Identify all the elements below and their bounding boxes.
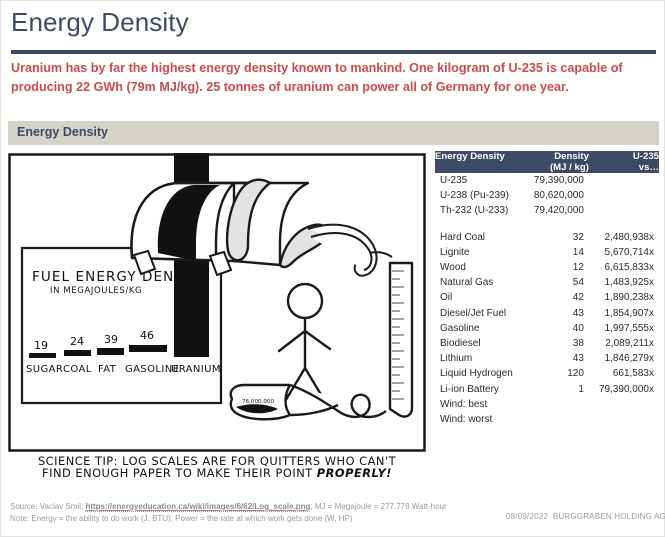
cartoon-chart-title-2: IN MEGAJOULES/KG: [50, 286, 142, 296]
table-header-row-1: Energy Density Density U-235: [435, 151, 659, 162]
svg-text:COAL: COAL: [63, 364, 92, 375]
table-row[interactable]: U-238 (Pu-239)80,620,000: [435, 188, 659, 203]
cell-name: Wood: [435, 260, 524, 275]
cell-density: 32: [524, 230, 589, 245]
col-header-density: Density: [524, 151, 589, 162]
cell-name: Gasoline: [435, 321, 524, 336]
footer-company: BURGGRABEN HOLDING AG: [553, 512, 665, 521]
footer-note-line: Note: Energy = the ability to do work (J…: [10, 513, 510, 525]
cell-density: 54: [524, 275, 589, 290]
cell-vs: 1,890,238x: [589, 290, 659, 305]
footer-source-line: Source: Vaclav Smil; https://energyeduca…: [10, 501, 510, 513]
table-row[interactable]: Wind: worst: [435, 412, 659, 427]
table-row[interactable]: Natural Gas541,483,925x: [435, 275, 659, 290]
table-header-row-2: (MJ / kg) vs…: [435, 162, 659, 173]
svg-text:URANIUM: URANIUM: [171, 364, 221, 375]
intro-line-2: producing 22 GWh (79m MJ/kg). 25 tonnes …: [11, 78, 651, 97]
cell-density: 14: [524, 245, 589, 260]
cell-name: Biodiesel: [435, 336, 524, 351]
table-row[interactable]: Lignite145,670,714x: [435, 245, 659, 260]
cell-name: Liquid Hydrogen: [435, 366, 524, 381]
cell-density: 40: [524, 321, 589, 336]
energy-density-table-wrapper: Energy Density Density U-235 (MJ / kg) v…: [435, 151, 659, 427]
cell-density: 38: [524, 336, 589, 351]
section-header-bar: Energy Density: [8, 121, 659, 145]
footer-source-suffix: ; MJ = Megajoule = 277.778 Watt-hour: [310, 502, 446, 511]
cell-vs: [589, 397, 659, 412]
cell-name: U-238 (Pu-239): [435, 188, 524, 203]
cartoon-tape-value: 76,000,000: [242, 399, 274, 405]
cell-name: Natural Gas: [435, 275, 524, 290]
cell-density: 42: [524, 290, 589, 305]
table-row[interactable]: Diesel/Jet Fuel431,854,907x: [435, 306, 659, 321]
cell-name: Hard Coal: [435, 230, 524, 245]
cell-density: 120: [524, 366, 589, 381]
cartoon-illustration: FUEL ENERGY DENSITY IN MEGAJOULES/KG 19 …: [8, 153, 426, 478]
cell-vs: 6,615,833x: [589, 260, 659, 275]
table-spacer-cell: [435, 219, 659, 230]
col-header-name: Energy Density: [435, 151, 524, 162]
col-header-density-unit: (MJ / kg): [524, 162, 589, 173]
table-row[interactable]: Lithium431,846,279x: [435, 351, 659, 366]
intro-line-1: Uranium has by far the highest energy de…: [11, 59, 651, 78]
table-row[interactable]: Wood126,615,833x: [435, 260, 659, 275]
cell-density: 43: [524, 306, 589, 321]
col-header-vs-sub: vs…: [589, 162, 659, 173]
title-divider: [11, 50, 656, 54]
cell-density: 12: [524, 260, 589, 275]
cell-name: Lithium: [435, 351, 524, 366]
cell-vs: 1,854,907x: [589, 306, 659, 321]
cell-density: 79,390,000: [524, 173, 589, 188]
cell-name: Lignite: [435, 245, 524, 260]
table-row[interactable]: Gasoline401,997,555x: [435, 321, 659, 336]
table-row[interactable]: Oil421,890,238x: [435, 290, 659, 305]
cell-density: 80,620,000: [524, 188, 589, 203]
page-title: Energy Density: [11, 7, 189, 38]
table-head: Energy Density Density U-235 (MJ / kg) v…: [435, 151, 659, 173]
cell-vs: 1,483,925x: [589, 275, 659, 290]
svg-text:SUGAR: SUGAR: [26, 364, 63, 375]
cell-vs: 5,670,714x: [589, 245, 659, 260]
col-header-name-sub: [435, 162, 524, 173]
cell-vs: 661,583x: [589, 366, 659, 381]
cell-name: Li-ion Battery: [435, 382, 524, 397]
table-row[interactable]: Th-232 (U-233)79,420,000: [435, 203, 659, 218]
cartoon-caption-line-2: FIND ENOUGH PAPER TO MAKE THEIR POINT PR…: [42, 466, 392, 478]
table-row[interactable]: Wind: best: [435, 397, 659, 412]
footer-source-prefix: Source: Vaclav Smil;: [10, 502, 85, 511]
slide-page: Energy Density Uranium has by far the hi…: [0, 0, 665, 537]
cell-vs: [589, 188, 659, 203]
table-row[interactable]: Hard Coal322,480,938x: [435, 230, 659, 245]
footer-notes: Source: Vaclav Smil; https://energyeduca…: [10, 501, 510, 524]
cell-vs: [589, 412, 659, 427]
cell-vs: 79,390,000x: [589, 382, 659, 397]
cartoon-svg: FUEL ENERGY DENSITY IN MEGAJOULES/KG 19 …: [8, 153, 426, 478]
cell-name: Wind: best: [435, 397, 524, 412]
table-body: U-23579,390,000U-238 (Pu-239)80,620,000T…: [435, 173, 659, 427]
intro-paragraph: Uranium has by far the highest energy de…: [11, 59, 651, 97]
energy-density-table: Energy Density Density U-235 (MJ / kg) v…: [435, 151, 659, 427]
svg-text:24: 24: [70, 335, 84, 348]
table-row[interactable]: Liquid Hydrogen120661,583x: [435, 366, 659, 381]
table-row[interactable]: Li-ion Battery179,390,000x: [435, 382, 659, 397]
cell-name: Wind: worst: [435, 412, 524, 427]
cell-vs: [589, 203, 659, 218]
section-header-label: Energy Density: [17, 125, 108, 139]
cell-name: Th-232 (U-233): [435, 203, 524, 218]
col-header-vs: U-235: [589, 151, 659, 162]
table-spacer-row: [435, 219, 659, 230]
svg-text:FAT: FAT: [98, 364, 117, 375]
table-row[interactable]: U-23579,390,000: [435, 173, 659, 188]
svg-text:19: 19: [34, 339, 48, 352]
svg-text:46: 46: [140, 329, 154, 342]
cell-density: 1: [524, 382, 589, 397]
cell-name: Diesel/Jet Fuel: [435, 306, 524, 321]
cell-name: Oil: [435, 290, 524, 305]
cell-density: 43: [524, 351, 589, 366]
cell-name: U-235: [435, 173, 524, 188]
svg-text:39: 39: [104, 333, 118, 346]
cell-vs: 1,997,555x: [589, 321, 659, 336]
cell-vs: 2,089,211x: [589, 336, 659, 351]
cell-vs: 1,846,279x: [589, 351, 659, 366]
cell-vs: 2,480,938x: [589, 230, 659, 245]
table-row[interactable]: Biodiesel382,089,211x: [435, 336, 659, 351]
ruler: [390, 263, 412, 417]
cell-density: 79,420,000: [524, 203, 589, 218]
cell-density: [524, 397, 589, 412]
cell-density: [524, 412, 589, 427]
footer-meta: 08/09/2022 BURGGRABEN HOLDING AG: [506, 512, 665, 521]
cell-vs: [589, 173, 659, 188]
source-link[interactable]: https://energyeducation.ca/wiki/images/6…: [85, 502, 310, 512]
footer-date: 08/09/2022: [506, 512, 548, 521]
